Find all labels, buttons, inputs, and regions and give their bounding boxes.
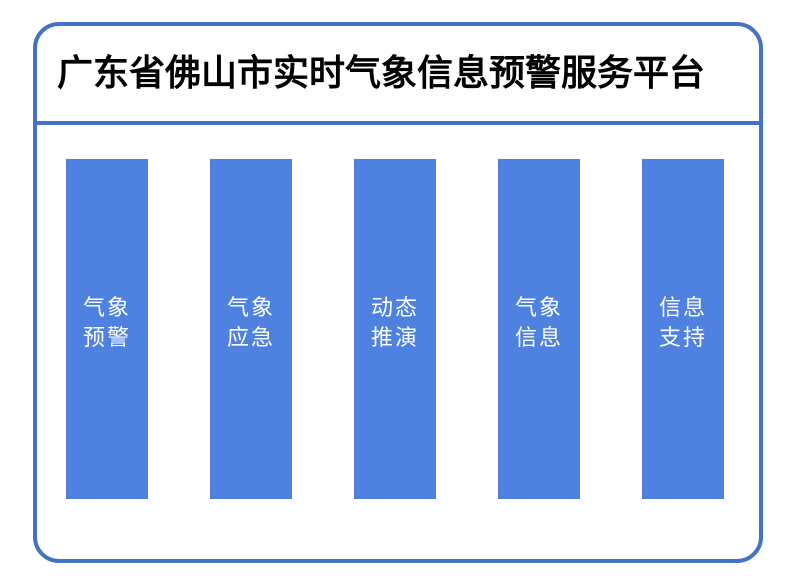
diagram-outer-frame: 广东省佛山市实时气象信息预警服务平台 气象 预警 气象 应急 动态 推演 气象 … (33, 22, 763, 563)
platform-diagram: 广东省佛山市实时气象信息预警服务平台 气象 预警 气象 应急 动态 推演 气象 … (0, 0, 796, 579)
pillar-weather-warning[interactable]: 气象 预警 (66, 159, 148, 499)
pillar-weather-emergency[interactable]: 气象 应急 (210, 159, 292, 499)
pillar-label: 气象 信息 (515, 294, 563, 354)
title-band: 广东省佛山市实时气象信息预警服务平台 (37, 26, 759, 125)
pillars-area: 气象 预警 气象 应急 动态 推演 气象 信息 信息 支持 (37, 129, 759, 559)
pillar-label: 气象 应急 (227, 294, 275, 354)
pillar-information-support[interactable]: 信息 支持 (642, 159, 724, 499)
pillar-dynamic-simulation[interactable]: 动态 推演 (354, 159, 436, 499)
pillar-label: 动态 推演 (371, 294, 419, 354)
pillar-label: 气象 预警 (83, 294, 131, 354)
page-title: 广东省佛山市实时气象信息预警服务平台 (37, 54, 705, 94)
pillar-weather-information[interactable]: 气象 信息 (498, 159, 580, 499)
pillar-label: 信息 支持 (659, 294, 707, 354)
